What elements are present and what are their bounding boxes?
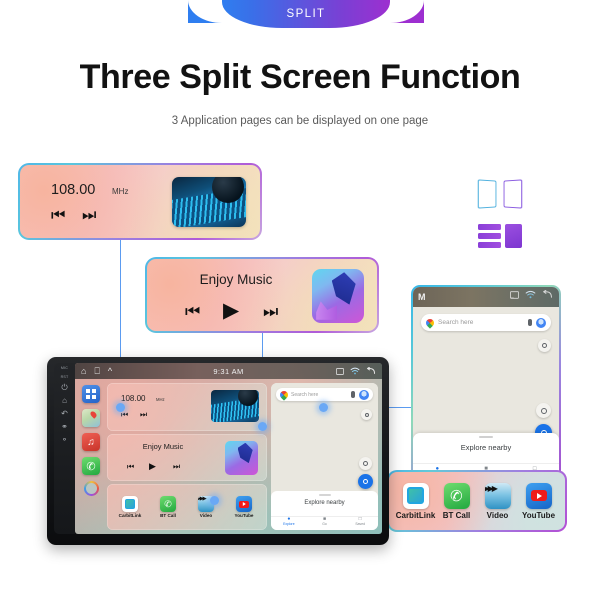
maps-bottom-sheet[interactable]: Explore nearby xyxy=(271,491,378,516)
three-pane-bar-3 xyxy=(478,242,501,248)
music-title-label: Enjoy Music xyxy=(107,442,219,451)
app-tile-carbitlink[interactable]: CarbitLink xyxy=(115,496,145,518)
radio-prev-button[interactable]: ⏮ xyxy=(51,208,65,224)
maps-widget[interactable]: M Search here Explore nearby ● xyxy=(411,285,561,481)
avatar[interactable] xyxy=(359,390,369,400)
app-label-bt-call: BT Call xyxy=(437,511,477,520)
my-location-icon[interactable] xyxy=(358,474,373,489)
all-apps-icon[interactable] xyxy=(82,385,100,403)
callout-dot-radio xyxy=(116,403,125,412)
radio-frequency-value: 108.00 xyxy=(51,182,95,198)
maps-canvas[interactable]: Search here xyxy=(413,307,559,453)
app-label-video: Video xyxy=(478,511,518,520)
music-icon[interactable] xyxy=(82,433,100,451)
three-pane-bar-2 xyxy=(478,233,501,239)
split-banner-label: SPLIT xyxy=(287,8,326,20)
maps-status-bar: M xyxy=(413,287,559,307)
callout-dot-music xyxy=(258,422,267,431)
volume-down-icon[interactable]: ⚬ xyxy=(61,436,68,444)
app-label-carbitlink: CarbitLink xyxy=(115,513,145,518)
maps-app-letter: M xyxy=(418,292,426,302)
head-unit-left-column: 108.00 MHz ⏮ ⏭ Enjoy Music ⏮ ▶ ⏭ C xyxy=(107,383,267,530)
music-next-button[interactable]: ⏭ xyxy=(173,462,180,472)
music-title-label: Enjoy Music xyxy=(147,272,325,287)
two-pane-right xyxy=(504,179,523,208)
sheet-grabber[interactable] xyxy=(319,494,331,496)
app-label-carbitlink: CarbitLink xyxy=(396,511,436,520)
wifi-icon xyxy=(525,290,536,299)
app-tile-carbitlink[interactable]: CarbitLink xyxy=(396,483,436,520)
assistant-ring-icon[interactable] xyxy=(84,481,99,496)
app-tile-video[interactable]: Video xyxy=(478,483,518,520)
sheet-grabber[interactable] xyxy=(479,436,493,438)
head-unit-dock xyxy=(79,383,103,530)
music-album-art xyxy=(225,441,258,475)
power-icon[interactable]: ⏻ xyxy=(61,384,67,392)
head-unit-screen: ⌂ ⎕ ^ 9:31 AM 108.00 MHz xyxy=(75,363,382,534)
music-play-button[interactable]: ▶ xyxy=(223,300,239,321)
radio-next-button[interactable]: ⏭ xyxy=(140,410,147,420)
app-label-video: Video xyxy=(191,513,221,518)
maps-search-bar[interactable]: Search here xyxy=(276,388,373,401)
head-unit-bezel: MIC RST ⏻ ⌂ ↶ ⚭ ⚬ xyxy=(54,363,75,534)
page-subtitle: 3 Application pages can be displayed on … xyxy=(0,115,600,127)
app-tile-youtube[interactable]: YouTube xyxy=(229,496,259,518)
callout-dot-maps xyxy=(319,403,328,412)
head-unit-music-pane[interactable]: Enjoy Music ⏮ ▶ ⏭ xyxy=(107,434,267,482)
car-head-unit: MIC RST ⏻ ⌂ ↶ ⚭ ⚬ ⌂ ⎕ ^ 9:31 AM xyxy=(47,357,389,545)
music-player-widget[interactable]: Enjoy Music ⏮ ▶ ⏭ xyxy=(145,257,379,333)
banner-wing-right xyxy=(390,0,424,23)
app-label-bt-call: BT Call xyxy=(153,513,183,518)
two-pane-left xyxy=(478,179,497,208)
phone-icon xyxy=(444,483,470,509)
nav-item-explore[interactable]: ● Explore xyxy=(271,517,307,530)
banner-wing-left xyxy=(188,0,222,23)
maps-canvas[interactable]: Search here xyxy=(271,383,378,499)
music-player-widget-surface: Enjoy Music ⏮ ▶ ⏭ xyxy=(147,259,377,331)
radio-frequency-unit: MHz xyxy=(156,397,165,402)
google-pin-icon xyxy=(280,391,288,399)
status-bar-right-icons xyxy=(336,367,376,375)
layers-icon[interactable] xyxy=(361,409,372,420)
google-pin-icon xyxy=(426,319,434,327)
music-prev-button[interactable]: ⏮ xyxy=(185,303,200,320)
app-label-youtube: YouTube xyxy=(229,513,259,518)
compass-icon[interactable] xyxy=(359,457,372,470)
app-tile-bt-call[interactable]: BT Call xyxy=(437,483,477,520)
nav-label-explore: Explore xyxy=(271,522,307,526)
cast-icon xyxy=(336,368,344,375)
fm-radio-widget[interactable]: 108.00 MHz ⏮ ⏭ xyxy=(18,163,262,240)
three-pane-main xyxy=(505,224,522,248)
back-icon[interactable] xyxy=(542,290,553,299)
maps-bottom-sheet[interactable]: Explore nearby xyxy=(413,433,559,463)
explore-nearby-label: Explore nearby xyxy=(271,500,378,506)
radio-thumbnail-image xyxy=(172,177,246,227)
volume-up-icon[interactable]: ⚭ xyxy=(61,423,68,431)
maps-icon[interactable] xyxy=(82,409,100,427)
page-title: Three Split Screen Function xyxy=(0,58,600,97)
explore-nearby-label: Explore nearby xyxy=(413,443,559,452)
mic-icon[interactable] xyxy=(528,319,532,326)
cast-icon xyxy=(510,291,519,299)
music-prev-button[interactable]: ⏮ xyxy=(127,462,134,472)
head-unit-apps-pane[interactable]: CarbitLink BT Call Video YouTube xyxy=(107,484,267,530)
avatar[interactable] xyxy=(536,318,546,328)
nav-label-saved: Saved xyxy=(342,522,378,526)
radio-frequency-value: 108.00 xyxy=(121,394,145,403)
back-icon[interactable] xyxy=(366,367,376,375)
app-tile-bt-call[interactable]: BT Call xyxy=(153,496,183,518)
bezel-label-mic: MIC xyxy=(61,366,68,370)
music-play-button[interactable]: ▶ xyxy=(149,461,156,472)
split-banner: SPLIT xyxy=(222,0,390,28)
carbitlink-icon xyxy=(403,483,429,509)
radio-thumbnail-image xyxy=(211,390,259,422)
carbitlink-icon xyxy=(122,496,138,512)
head-unit-status-bar: ⌂ ⎕ ^ 9:31 AM xyxy=(75,363,382,379)
head-unit-radio-pane[interactable]: 108.00 MHz ⏮ ⏭ xyxy=(107,383,267,431)
music-next-button[interactable]: ⏭ xyxy=(263,303,278,320)
music-album-art xyxy=(312,269,364,323)
phone-icon xyxy=(160,496,176,512)
wifi-icon xyxy=(350,367,360,375)
three-pane-bar-1 xyxy=(478,224,501,230)
three-pane-layout-icon[interactable] xyxy=(478,224,522,250)
mic-icon[interactable] xyxy=(351,391,355,398)
maps-widget-surface: M Search here Explore nearby ● xyxy=(413,287,559,479)
nav-item-go[interactable]: ■ Go xyxy=(307,517,343,530)
home-icon[interactable]: ⌂ xyxy=(62,397,67,405)
youtube-icon xyxy=(526,483,552,509)
app-shortcuts-surface: CarbitLink BT Call Video YouTube xyxy=(389,472,565,530)
bezel-label-rst: RST xyxy=(61,375,69,379)
back-icon[interactable]: ↶ xyxy=(61,410,68,418)
phone-icon[interactable] xyxy=(82,457,100,475)
compass-icon[interactable] xyxy=(536,403,551,418)
nav-label-go: Go xyxy=(307,522,343,526)
two-pane-layout-icon[interactable] xyxy=(478,180,522,210)
layers-icon[interactable] xyxy=(538,339,551,352)
maps-bottom-nav[interactable]: ● Explore ■ Go □ Saved xyxy=(271,516,378,530)
callout-dot-apps xyxy=(210,496,219,505)
maps-search-placeholder: Search here xyxy=(291,392,351,398)
app-label-youtube: YouTube xyxy=(519,511,559,520)
layout-icons-group xyxy=(478,180,522,250)
nav-item-saved[interactable]: □ Saved xyxy=(342,517,378,530)
fm-radio-widget-surface: 108.00 MHz ⏮ ⏭ xyxy=(20,165,260,238)
radio-next-button[interactable]: ⏭ xyxy=(82,208,96,224)
video-icon xyxy=(485,483,511,509)
app-shortcuts-widget[interactable]: CarbitLink BT Call Video YouTube xyxy=(387,470,567,532)
radio-frequency-unit: MHz xyxy=(112,187,128,196)
maps-search-placeholder: Search here xyxy=(438,319,528,326)
youtube-icon xyxy=(236,496,252,512)
maps-search-bar[interactable]: Search here xyxy=(421,314,551,331)
app-tile-youtube[interactable]: YouTube xyxy=(519,483,559,520)
maps-status-icons xyxy=(510,290,553,299)
